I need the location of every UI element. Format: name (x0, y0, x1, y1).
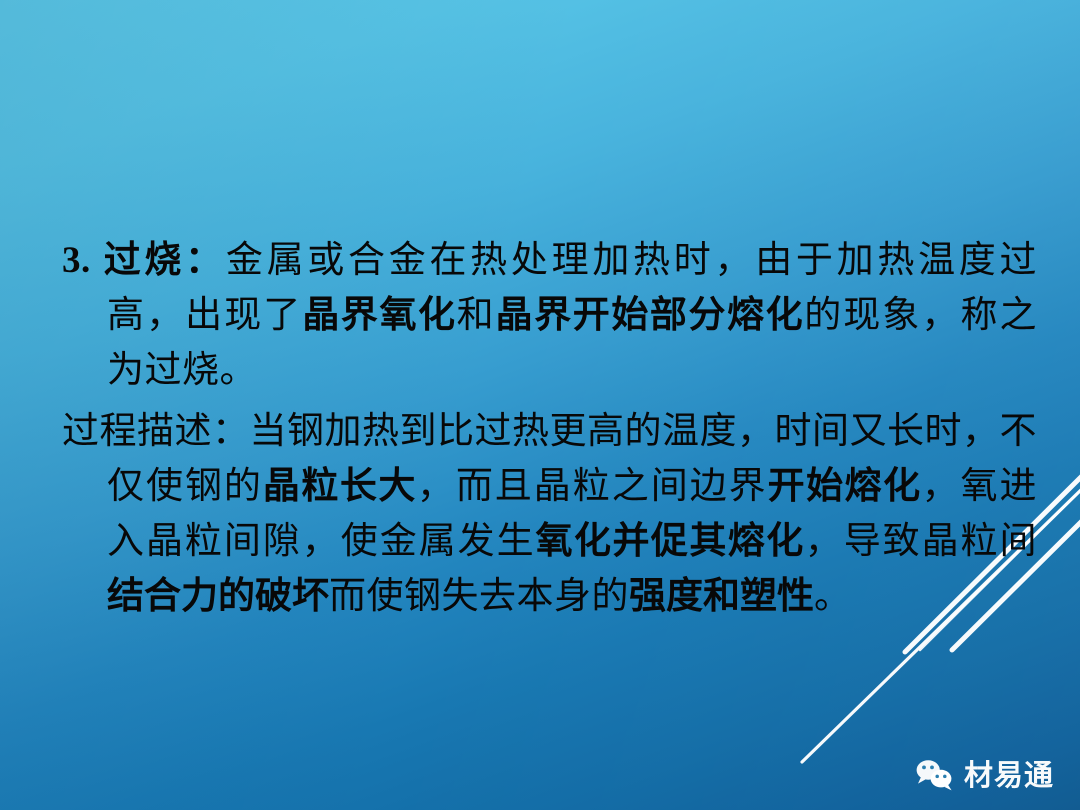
paragraph-1-lead: 3. 过烧： (62, 240, 226, 281)
paragraph-1-run-4-bold: 晶界开始部分熔化 (496, 295, 805, 336)
watermark: 材易通 (915, 759, 1054, 792)
wechat-icon (915, 759, 955, 792)
paragraph-2-run-7: ，导致晶粒间 (805, 521, 1037, 562)
paragraph-over-burning: 3. 过烧：金属或合金在热处理加热时，由于加热温度过高，出现了晶界氧化和晶界开始… (62, 233, 1037, 398)
paragraph-2-run-9: 而使钢失去本身的 (329, 576, 629, 617)
watermark-label: 材易通 (964, 761, 1054, 790)
paragraph-1-run-2-bold: 晶界氧化 (302, 295, 456, 336)
slide-canvas: 3. 过烧：金属或合金在热处理加热时，由于加热温度过高，出现了晶界氧化和晶界开始… (0, 0, 1080, 810)
paragraph-2-run-11: 。 (814, 576, 852, 617)
paragraph-2-run-2-bold: 晶粒长大 (263, 466, 417, 507)
paragraph-2-run-10-bold: 强度和塑性 (629, 576, 814, 617)
paragraph-2-lead: 过程描述： (62, 411, 250, 452)
paragraph-2-run-4-bold: 开始熔化 (768, 466, 922, 507)
paragraph-2-run-3: ，而且晶粒之间边界 (417, 466, 768, 507)
paragraph-2-run-8-bold: 结合力的破坏 (107, 576, 329, 617)
paragraph-process-description: 过程描述：当钢加热到比过热更高的温度，时间又长时，不仅使钢的晶粒长大，而且晶粒之… (62, 404, 1037, 624)
paragraph-1-run-3: 和 (457, 295, 496, 336)
paragraph-2-run-6-bold: 氧化并促其熔化 (536, 521, 805, 562)
